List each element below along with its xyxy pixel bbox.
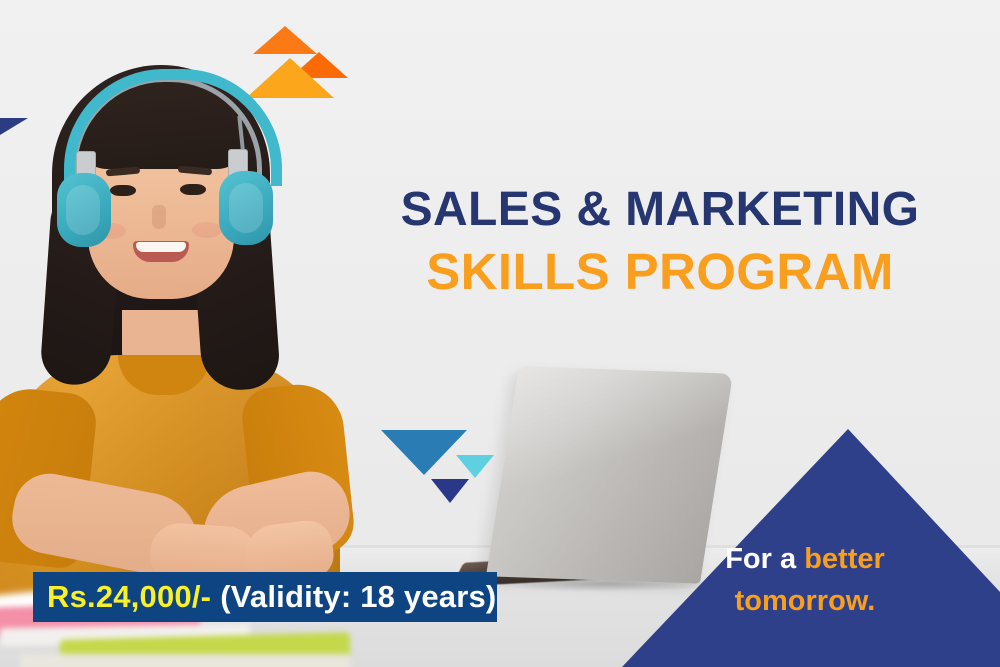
tagline-line-2: tomorrow.: [640, 580, 970, 622]
price-amount: Rs.24,000/-: [47, 579, 211, 615]
headphone-earpad-right: [229, 183, 263, 233]
teeth: [136, 242, 186, 252]
book-cream: [20, 654, 350, 667]
tagline-highlight: better: [804, 543, 885, 575]
headline-line-1: SALES & MARKETING: [355, 183, 965, 237]
tagline-pennant: For a better tomorrow.: [600, 420, 1000, 667]
tagline-line-1: For a better: [640, 538, 970, 580]
orange-triangle-up-icon: [253, 26, 317, 54]
promotional-banner: SALES & MARKETING SKILLS PROGRAM Rs.24,0…: [0, 0, 1000, 667]
cheek-right: [192, 222, 222, 238]
blue-triangle-down-icon: [381, 430, 467, 475]
eye-left: [110, 185, 136, 196]
tagline: For a better tomorrow.: [640, 538, 970, 622]
nose: [152, 205, 166, 229]
navy-triangle-down-icon: [431, 479, 469, 503]
mouth: [133, 241, 189, 262]
headphone-earpad-left: [66, 185, 100, 235]
headline-line-2: SKILLS PROGRAM: [355, 243, 965, 300]
headline: SALES & MARKETING SKILLS PROGRAM: [355, 183, 965, 300]
cyan-triangle-down-icon: [456, 455, 494, 478]
tagline-prefix: For a: [725, 543, 804, 575]
price-validity: (Validity: 18 years): [220, 579, 496, 615]
price-banner: Rs.24,000/- (Validity: 18 years): [33, 572, 497, 622]
